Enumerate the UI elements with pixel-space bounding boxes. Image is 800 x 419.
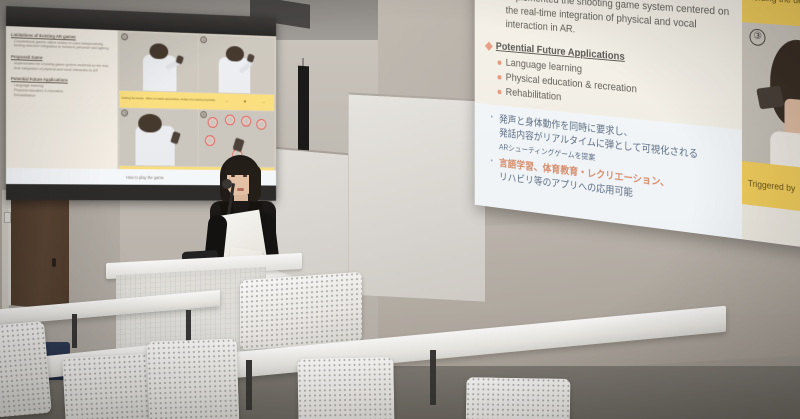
secondary-slide-text-column: Limitations of Existing AR games Convent… xyxy=(6,26,118,185)
figure-photo-3-number: ③ xyxy=(750,28,766,46)
figure-panel-2-caption: When an attack approaches, dodge it by l… xyxy=(146,98,215,103)
chair-foreground-1 xyxy=(0,321,52,419)
screen-roller-slot xyxy=(298,66,309,151)
round-bullet-icon-3 xyxy=(497,60,501,65)
door-knob-icon[interactable] xyxy=(52,258,56,267)
figure-panel-2-number: ② xyxy=(200,36,206,43)
main-slide-figure-column: Holding the device ③ Triggered by xyxy=(742,0,800,250)
figure-panel-1: ① xyxy=(120,32,198,91)
chair-foreground-3 xyxy=(147,338,240,419)
chair-foreground-4 xyxy=(297,357,394,419)
chair-foreground-5 xyxy=(465,377,570,419)
japanese-bullet-icon-1: ・ xyxy=(488,111,496,154)
caption-arrow-icons: → ● → xyxy=(217,98,272,105)
presenter-hair-side xyxy=(249,165,261,201)
figure-panel-4-number: ④ xyxy=(200,111,206,118)
light-switch-plate[interactable] xyxy=(4,212,11,223)
figure-photo-3: ③ xyxy=(742,22,800,170)
chair-foreground-2 xyxy=(62,354,152,419)
figure-caption-triggered-by: Triggered by xyxy=(742,161,800,214)
figure-panel-3-number: ③ xyxy=(122,109,129,116)
figure-grid-title-text: How to play the game xyxy=(126,174,164,179)
microphone-icon xyxy=(222,179,232,189)
arrow-right-icon: → xyxy=(224,98,229,104)
bullet-dot-icon: ● xyxy=(244,99,247,105)
desk-leg xyxy=(72,314,77,348)
arrow-right-icon-2: → xyxy=(261,99,265,105)
main-slide-content: to enhance presen Proposed Game Implemen… xyxy=(475,0,742,239)
figure-panel-3: ③ xyxy=(120,108,198,166)
figure-panel-1-caption: Holding the device xyxy=(122,97,144,101)
desk-leg xyxy=(246,360,252,410)
round-bullet-icon-5 xyxy=(497,89,501,94)
figure-panel-2: ② xyxy=(199,35,275,93)
room-door[interactable] xyxy=(8,193,69,311)
desk-leg xyxy=(186,310,191,344)
caption-text-holding-device: Holding the device xyxy=(748,0,800,7)
japanese-bullet-icon-2: ・ xyxy=(488,155,496,184)
desk-leg xyxy=(430,350,436,405)
round-bullet-icon-4 xyxy=(497,75,501,80)
figure-panel-1-number: ① xyxy=(122,33,129,40)
figure-caption-band-top: Holding the device When an attack approa… xyxy=(120,90,275,110)
presenter-mouth xyxy=(237,188,244,191)
bullet-text-1: Implemented the shooting game system cen… xyxy=(506,0,733,49)
diamond-bullet-icon-2 xyxy=(485,42,493,51)
whiteboard xyxy=(348,92,485,301)
caption-text-triggered-by: Triggered by xyxy=(748,178,796,193)
chair-back-tall xyxy=(240,272,362,351)
lecture-room-photo: Limitations of Existing AR games Convent… xyxy=(0,0,800,419)
